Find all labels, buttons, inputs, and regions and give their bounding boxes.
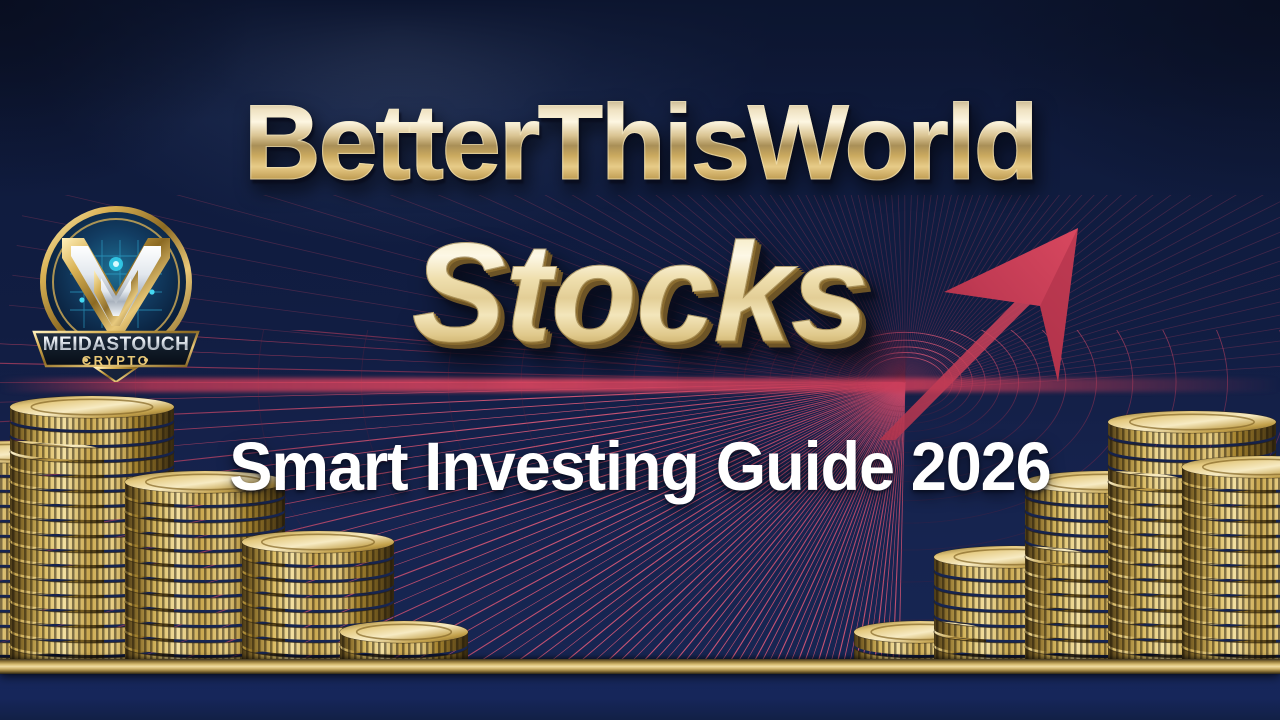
subtitle: Smart Investing Guide 2026 [229, 432, 1050, 501]
thumbnail-canvas: MEIDASTOUCH CRYPTO BetterThisWorld Stock… [0, 0, 1280, 720]
brand-title-row: BetterThisWorld [0, 88, 1280, 197]
subtitle-row: Smart Investing Guide 2026 [0, 432, 1280, 501]
word-mark-row: Stocks [0, 222, 1280, 363]
word-mark-stocks: Stocks [412, 222, 868, 363]
shelf-under-surface [0, 672, 1280, 720]
gold-bar-shelf [0, 659, 1280, 674]
brand-title: BetterThisWorld [244, 88, 1037, 197]
